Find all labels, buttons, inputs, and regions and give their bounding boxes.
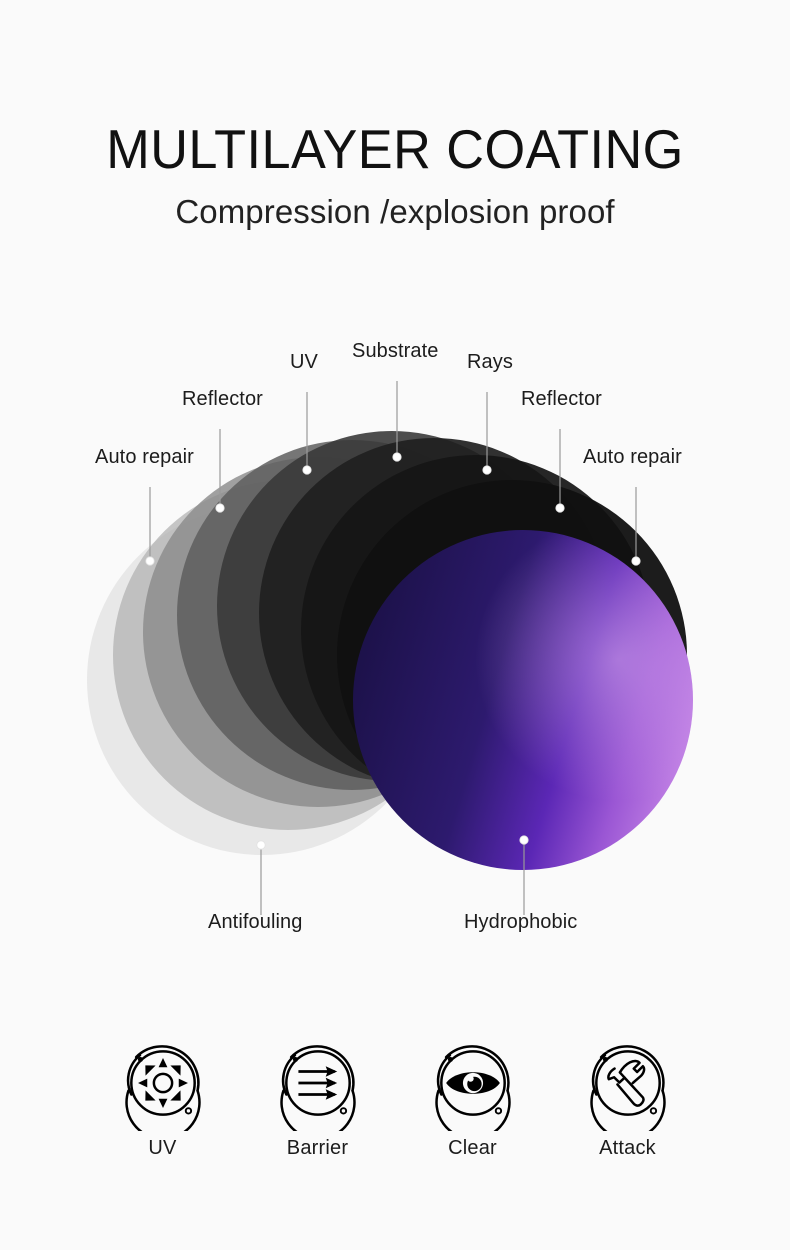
callout-dot-antifouling [257, 841, 265, 849]
feature-label-attack: Attack [599, 1137, 656, 1160]
callout-label-auto-repair-right: Auto repair [583, 446, 682, 469]
feature-label-clear: Clear [448, 1137, 497, 1160]
hammer-icon [580, 1035, 676, 1131]
callout-dot-reflector-left [216, 504, 224, 512]
multilayer-diagram: Auto repairReflectorUVSubstrateRaysRefle… [0, 340, 790, 980]
callout-dot-reflector-right [556, 504, 564, 512]
sun-icon [115, 1035, 211, 1131]
arrows-icon [270, 1035, 366, 1131]
feature-label-barrier: Barrier [287, 1137, 348, 1160]
callout-dot-substrate [393, 453, 401, 461]
hydrophobic-sheen [353, 530, 693, 870]
poster-root: MULTILAYER COATING Compression /explosio… [0, 0, 790, 1250]
hydrophobic-layer-group [353, 530, 693, 870]
feature-row: UV [0, 1035, 790, 1160]
callout-label-reflector-right: Reflector [521, 388, 602, 411]
feature-attack[interactable]: Attack [550, 1035, 705, 1160]
callout-dot-hydrophobic [520, 836, 528, 844]
callout-dot-rays [483, 466, 491, 474]
page-title: MULTILAYER COATING [20, 0, 771, 179]
feature-clear[interactable]: Clear [395, 1035, 550, 1160]
feature-barrier[interactable]: Barrier [240, 1035, 395, 1160]
callout-label-auto-repair-left: Auto repair [95, 446, 194, 469]
feature-uv[interactable]: UV [85, 1035, 240, 1160]
eye-icon [425, 1035, 521, 1131]
callout-label-rays: Rays [467, 351, 513, 374]
callout-label-uv-left: UV [290, 351, 318, 374]
callout-dot-auto-repair-right [632, 557, 640, 565]
callout-dot-uv-left [303, 466, 311, 474]
page-subtitle: Compression /explosion proof [0, 179, 790, 231]
header: MULTILAYER COATING Compression /explosio… [0, 0, 790, 231]
feature-label-uv: UV [148, 1137, 176, 1160]
callout-label-hydrophobic: Hydrophobic [464, 911, 577, 934]
callout-label-substrate: Substrate [352, 340, 439, 363]
callout-dot-auto-repair-left [146, 557, 154, 565]
callout-label-reflector-left: Reflector [182, 388, 263, 411]
callout-label-antifouling: Antifouling [208, 911, 303, 934]
